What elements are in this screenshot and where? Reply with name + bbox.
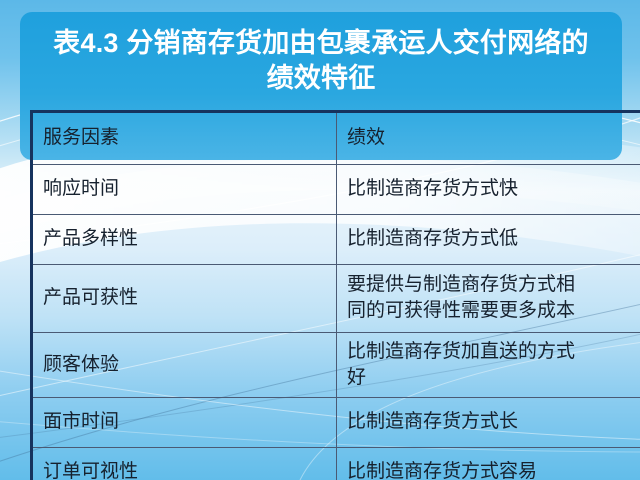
table-row: 订单可视性 比制造商存货方式容易 bbox=[32, 448, 640, 480]
table-row: 产品可获性 要提供与制造商存货方式相 同的可获得性需要更多成本 bbox=[32, 265, 640, 333]
column-header-service-factor: 服务因素 bbox=[32, 112, 337, 165]
cell-factor: 订单可视性 bbox=[32, 448, 337, 480]
table-row: 产品多样性 比制造商存货方式低 bbox=[32, 215, 640, 265]
page-title: 表4.3 分销商存货加由包裹承运人交付网络的 绩效特征 bbox=[50, 26, 592, 96]
cell-factor: 产品多样性 bbox=[32, 215, 337, 265]
cell-performance: 比制造商存货方式容易 bbox=[337, 448, 640, 480]
column-header-performance: 绩效 bbox=[337, 112, 640, 165]
cell-performance: 比制造商存货方式快 bbox=[337, 165, 640, 215]
cell-performance: 要提供与制造商存货方式相 同的可获得性需要更多成本 bbox=[337, 265, 640, 333]
cell-performance: 比制造商存货方式长 bbox=[337, 398, 640, 448]
cell-performance: 比制造商存货方式低 bbox=[337, 215, 640, 265]
cell-factor: 面市时间 bbox=[32, 398, 337, 448]
performance-table: 服务因素 绩效 响应时间 比制造商存货方式快 产品多样性 比制造商存货方式低 产… bbox=[30, 110, 640, 480]
cell-factor: 顾客体验 bbox=[32, 333, 337, 398]
table-row: 面市时间 比制造商存货方式长 bbox=[32, 398, 640, 448]
cell-factor: 响应时间 bbox=[32, 165, 337, 215]
cell-factor: 产品可获性 bbox=[32, 265, 337, 333]
slide-canvas: 表4.3 分销商存货加由包裹承运人交付网络的 绩效特征 服务因素 绩效 响应时间… bbox=[0, 0, 640, 480]
table-row: 响应时间 比制造商存货方式快 bbox=[32, 165, 640, 215]
cell-performance: 比制造商存货加直送的方式 好 bbox=[337, 333, 640, 398]
table-header-row: 服务因素 绩效 bbox=[32, 112, 640, 165]
table-row: 顾客体验 比制造商存货加直送的方式 好 bbox=[32, 333, 640, 398]
